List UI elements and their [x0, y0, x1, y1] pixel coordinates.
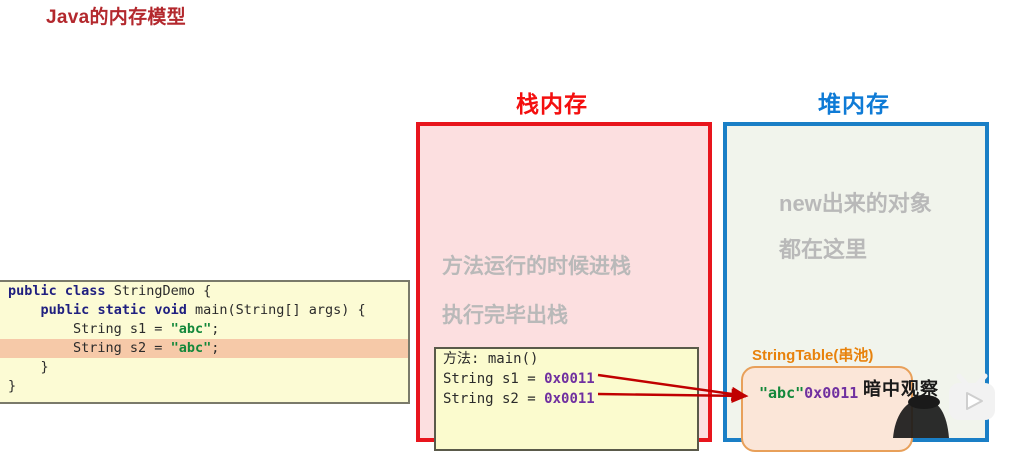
- code-token: "abc": [759, 384, 804, 402]
- heap-ghost-line-1: new出来的对象: [779, 186, 932, 218]
- code-token: void: [154, 302, 187, 318]
- stack-ghost-line-2: 执行完毕出栈: [442, 299, 568, 329]
- stringtable-entry: "abc"0x0011: [759, 384, 858, 402]
- code-token: main(String[] args) {: [187, 302, 366, 318]
- code-line: }: [0, 377, 408, 396]
- stack-memory-box: 方法运行的时候进栈 执行完毕出栈 方法: main()String s1 = 0…: [416, 122, 712, 442]
- code-token: StringDemo {: [106, 283, 212, 299]
- code-line: public static void main(String[] args) {: [0, 301, 408, 320]
- code-token: String s2 =: [443, 391, 544, 407]
- page-title: Java的内存模型: [46, 2, 186, 29]
- code-token: String s1 =: [443, 371, 544, 387]
- code-token: String s2 =: [8, 340, 171, 356]
- code-token: 方法: main(): [443, 351, 538, 367]
- code-token: String s1 =: [8, 321, 171, 337]
- code-token: ;: [211, 340, 219, 356]
- code-token: static: [97, 302, 146, 318]
- code-line: }: [0, 358, 408, 377]
- heap-ghost-line-2: 都在这里: [779, 232, 867, 264]
- code-line-highlighted: String s2 = "abc";: [0, 339, 408, 358]
- stringtable-label: StringTable(串池): [752, 344, 873, 365]
- code-token: }: [8, 378, 16, 394]
- stack-memory-title: 栈内存: [516, 85, 588, 119]
- stack-frame-lines: 方法: main()String s1 = 0x0011String s2 = …: [436, 349, 697, 409]
- code-token: "abc": [171, 321, 212, 337]
- code-token: 0x0011: [804, 384, 858, 402]
- code-token: }: [8, 359, 49, 375]
- code-token: class: [65, 283, 106, 299]
- bilibili-tv-logo-icon: [944, 372, 1000, 424]
- code-token: [57, 283, 65, 299]
- stack-frame-main: 方法: main()String s1 = 0x0011String s2 = …: [434, 347, 699, 451]
- code-token: [8, 302, 41, 318]
- heap-memory-title: 堆内存: [818, 85, 890, 119]
- code-lines: public class StringDemo { public static …: [0, 282, 408, 396]
- code-line: public class StringDemo {: [0, 282, 408, 301]
- code-block: public class StringDemo { public static …: [0, 280, 410, 404]
- stack-frame-line: String s1 = 0x0011: [436, 369, 697, 389]
- stack-frame-line: String s2 = 0x0011: [436, 389, 697, 409]
- stack-ghost-line-1: 方法运行的时候进栈: [442, 250, 631, 280]
- code-token: public: [8, 283, 57, 299]
- code-token: public: [41, 302, 90, 318]
- code-token: 0x0011: [544, 391, 595, 407]
- code-line: String s1 = "abc";: [0, 320, 408, 339]
- code-token: ;: [211, 321, 219, 337]
- code-token: 0x0011: [544, 371, 595, 387]
- code-token: "abc": [171, 340, 212, 356]
- stack-frame-line: 方法: main(): [436, 349, 697, 369]
